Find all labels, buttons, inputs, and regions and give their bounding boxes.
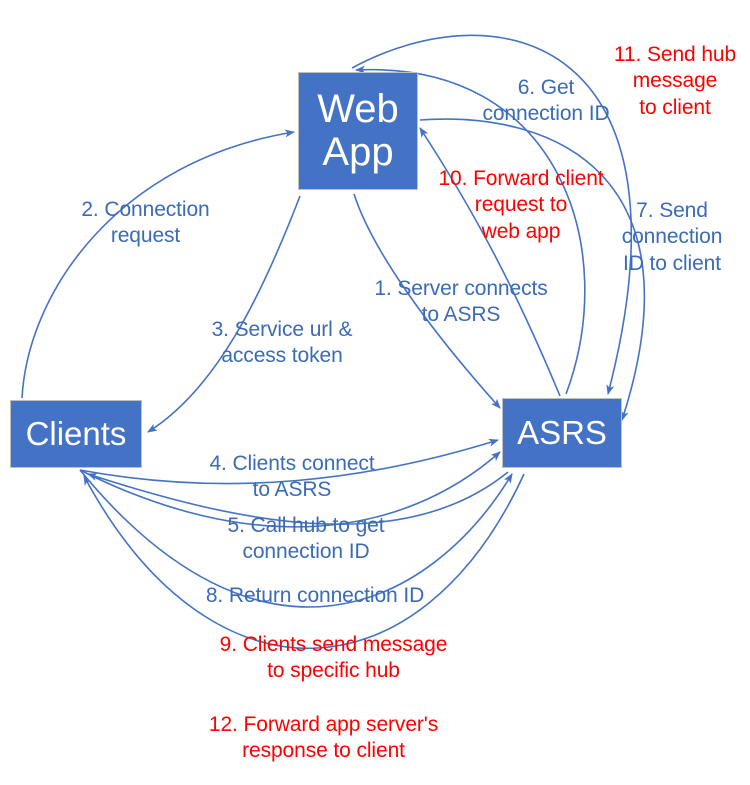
step-label-8: 8. Return connection ID: [190, 583, 440, 609]
step-label-11: 11. Send hub message to client: [602, 42, 748, 121]
node-web-app[interactable]: Web App: [298, 72, 418, 190]
diagram-canvas: Web App Clients ASRS 1. Server connects …: [0, 0, 750, 785]
step-label-3: 3. Service url & access token: [196, 317, 368, 370]
step-label-7: 7. Send connection ID to client: [598, 198, 746, 277]
step-label-12: 12. Forward app server's response to cli…: [196, 712, 451, 765]
step-label-5: 5. Call hub to get connection ID: [210, 513, 402, 566]
node-clients[interactable]: Clients: [10, 400, 142, 468]
step-label-1: 1. Server connects to ASRS: [366, 276, 556, 329]
node-asrs[interactable]: ASRS: [502, 398, 622, 468]
step-label-4: 4. Clients connect to ASRS: [192, 451, 392, 504]
step-label-2: 2. Connection request: [58, 197, 233, 250]
step-label-10: 10. Forward client request to web app: [428, 166, 614, 245]
step-label-9: 9. Clients send message to specific hub: [206, 632, 461, 685]
